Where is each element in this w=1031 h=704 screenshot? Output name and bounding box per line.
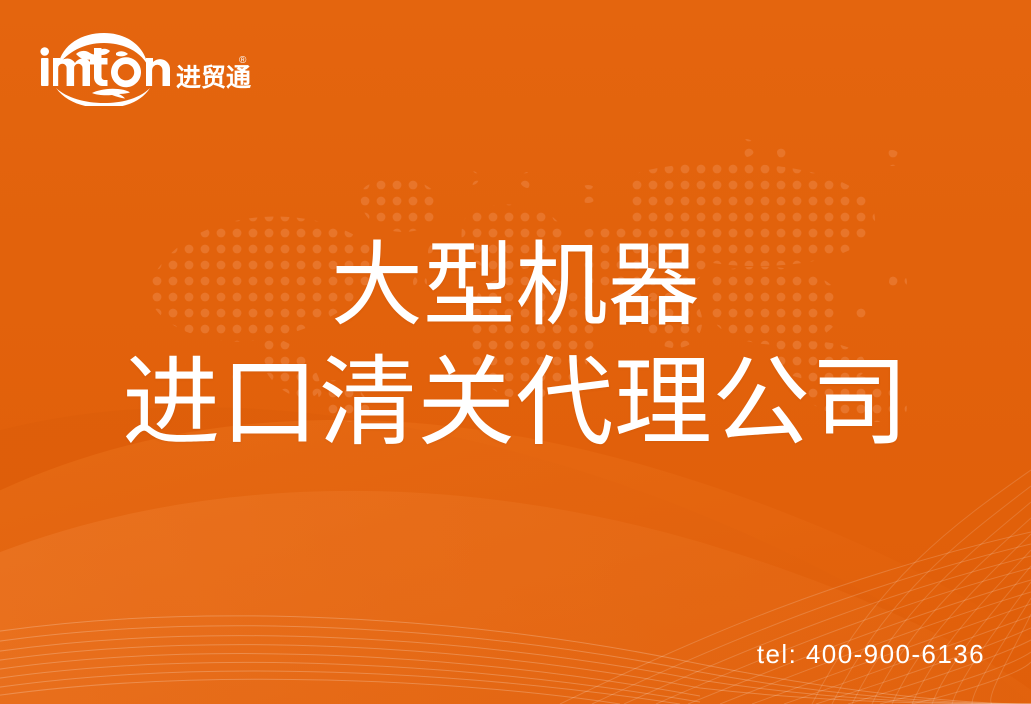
airplane-icon [56, 88, 150, 106]
page-title: 大型机器 进口清关代理公司 [0, 232, 1031, 460]
promo-banner: 进贸通 ® 大型机器 进口清关代理公司 tel: 400-900-6136 [0, 0, 1031, 704]
company-logo[interactable]: 进贸通 ® [36, 30, 251, 106]
contact-telephone: tel: 400-900-6136 [757, 639, 985, 670]
headline-line-2: 进口清关代理公司 [0, 345, 1031, 461]
trademark-symbol: ® [239, 55, 247, 66]
headline-line-1: 大型机器 [0, 232, 1031, 341]
logo-chinese-name: 进贸通 [176, 63, 251, 92]
